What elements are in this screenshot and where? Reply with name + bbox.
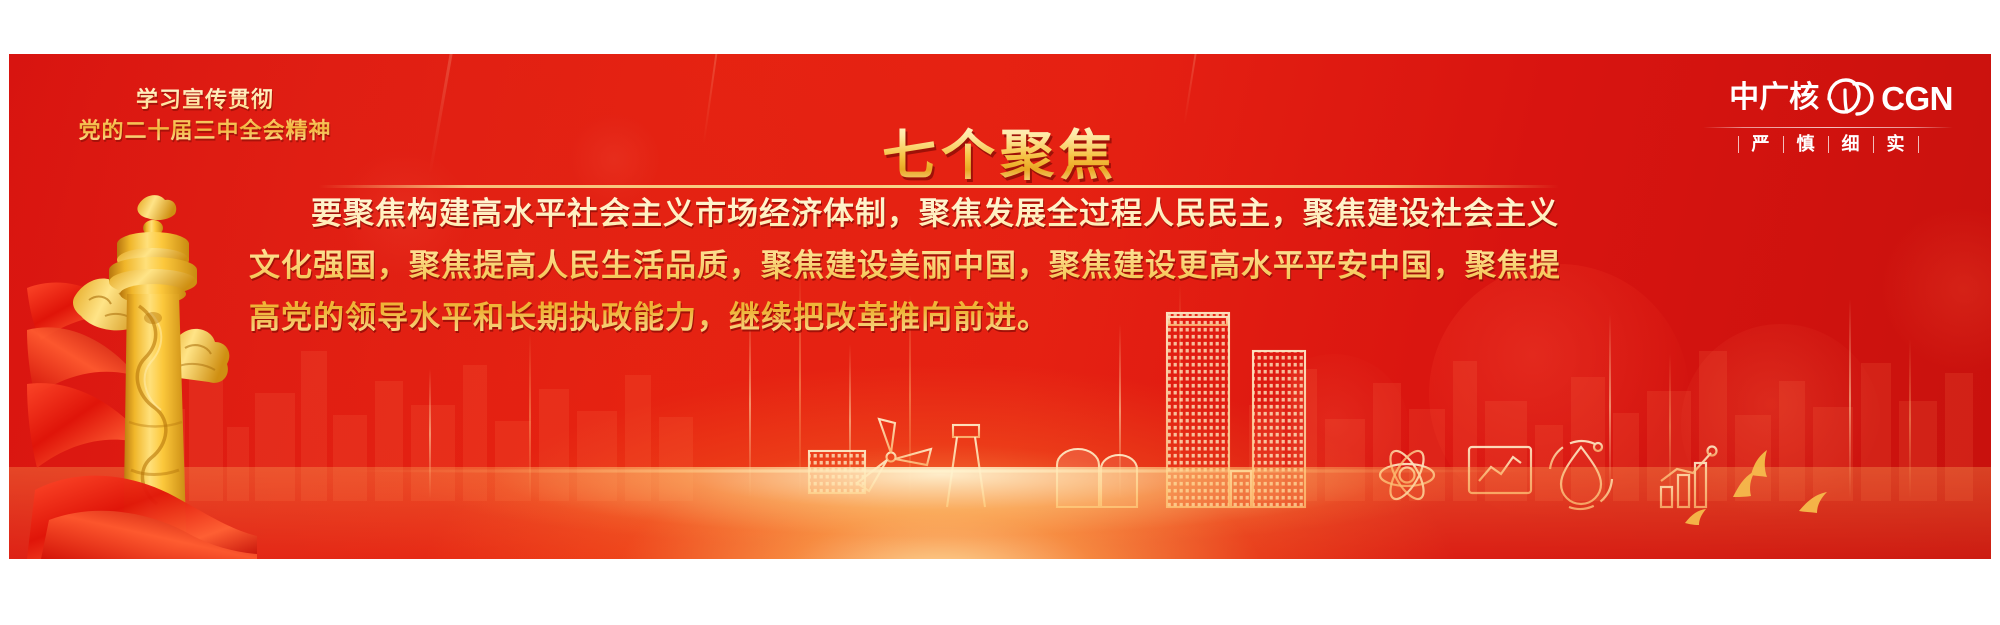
- logo-tagline: 严 慎 细 实: [1703, 135, 1953, 153]
- red-silk-ribbon-icon: [27, 476, 257, 559]
- logo-english-name: CGN: [1881, 82, 1953, 115]
- tagline-separator: [1918, 136, 1919, 153]
- banner-body-text: 要聚焦构建高水平社会主义市场经济体制，聚焦发展全过程人民民主，聚焦建设社会主义 …: [249, 188, 1559, 344]
- cgn-swoosh-icon: [1823, 78, 1877, 118]
- tagline-word: 实: [1874, 135, 1918, 153]
- logo-row: 中广核 CGN: [1703, 74, 1953, 122]
- column-capital: [109, 232, 197, 304]
- cgn-logo: 中广核 CGN 严 慎 细 实: [1703, 74, 1953, 164]
- tagline-word: 慎: [1784, 135, 1828, 153]
- column-crown-beast: [137, 195, 176, 236]
- page-title: 七个聚焦: [9, 111, 1991, 190]
- tagline-word: 细: [1829, 135, 1873, 153]
- huabiao-column-icon: [27, 170, 257, 559]
- logo-divider: [1703, 127, 1953, 128]
- body-line-2: 文化强国，聚焦提高人民生活品质，聚焦建设美丽中国，聚焦建设更高水平平安中国，聚焦…: [249, 240, 1559, 292]
- body-line-1: 要聚焦构建高水平社会主义市场经济体制，聚焦发展全过程人民民主，聚焦建设社会主义: [249, 188, 1559, 240]
- ground-glow: [9, 467, 1991, 559]
- logo-chinese-name: 中广核: [1729, 83, 1819, 113]
- tagline-word: 严: [1739, 135, 1783, 153]
- body-line-3: 高党的领导水平和长期执政能力，继续把改革推向前进。: [249, 292, 1559, 344]
- propaganda-banner: 学习宣传贯彻 党的二十届三中全会精神 七个聚焦 要聚焦构建高水平社会主义市场经济…: [9, 54, 1991, 559]
